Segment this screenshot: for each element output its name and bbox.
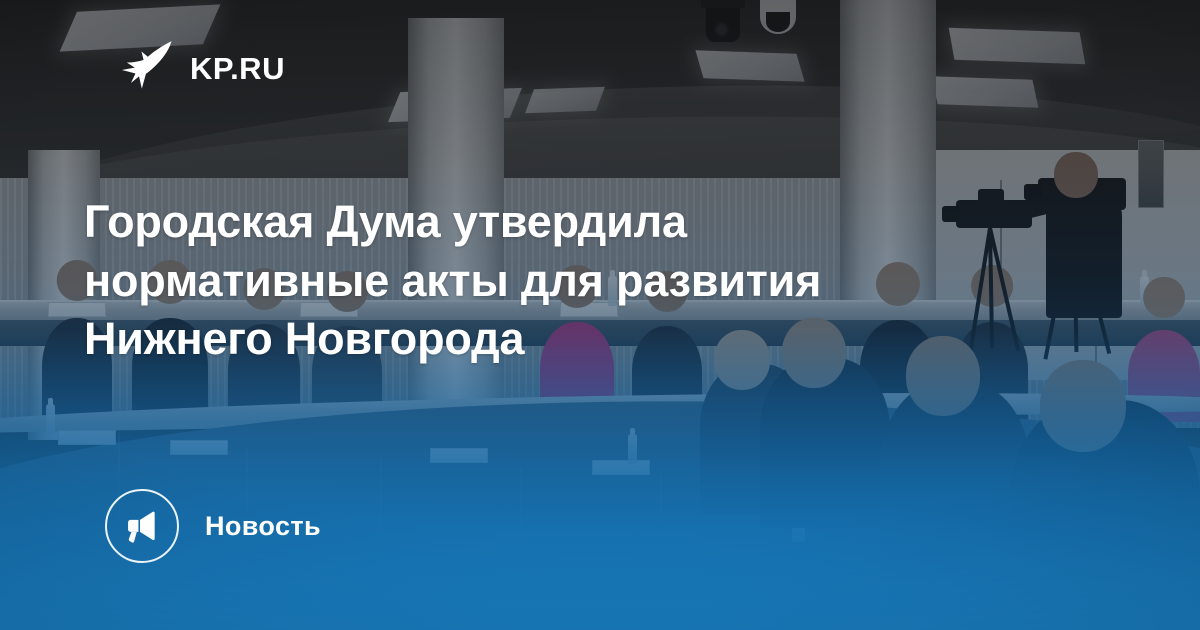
status-badge[interactable]: Новость — [105, 489, 321, 563]
badge-label: Новость — [205, 511, 321, 542]
news-share-card: KP.RU Городская Дума утвердила нормативн… — [0, 0, 1200, 630]
card-content: KP.RU Городская Дума утвердила нормативн… — [0, 0, 1200, 630]
brand-logo[interactable]: KP.RU — [112, 38, 285, 100]
headline-line: Городская Дума утвердила — [84, 193, 1024, 252]
brand-name: KP.RU — [190, 51, 285, 87]
headline-line: нормативные акты для развития — [84, 252, 1024, 311]
megaphone-icon — [123, 507, 161, 545]
page-title: Городская Дума утвердила нормативные акт… — [84, 193, 1024, 369]
swallow-bird-icon — [112, 38, 174, 100]
headline-line: Нижнего Новгорода — [84, 310, 1024, 369]
badge-icon-circle — [105, 489, 179, 563]
